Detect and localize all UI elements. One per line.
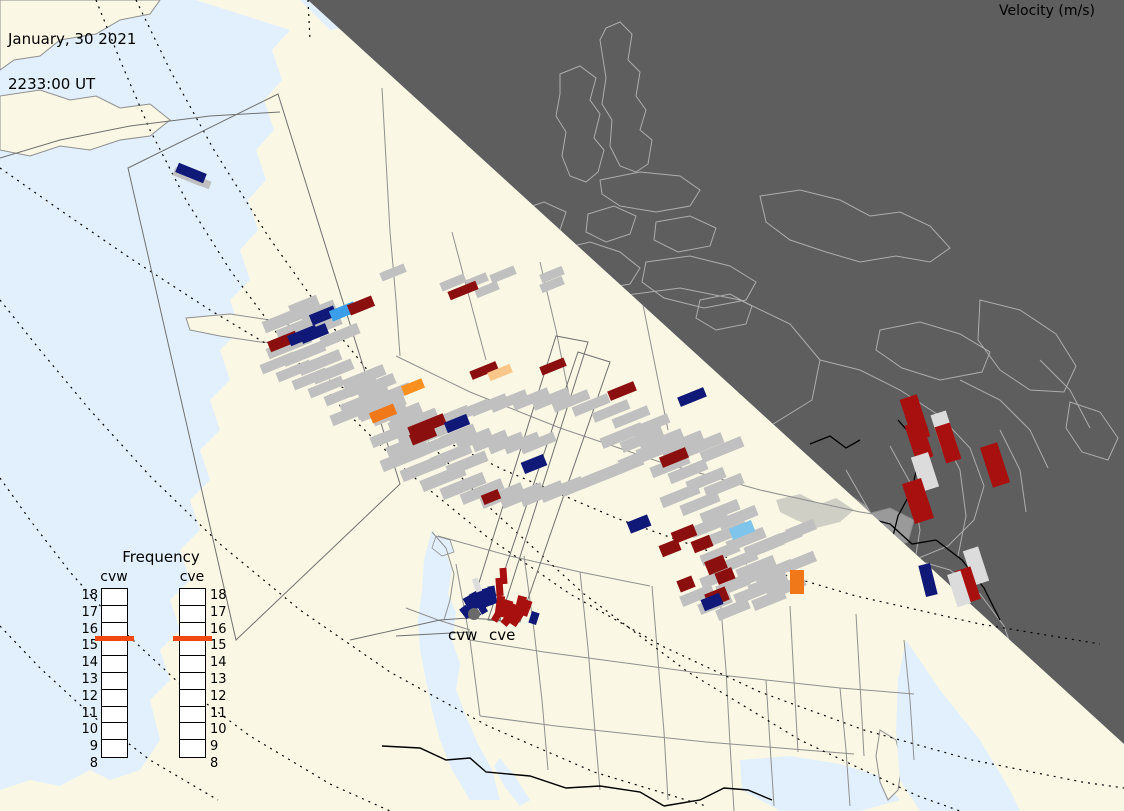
site-label-cve: cve	[489, 626, 515, 644]
frequency-tick-16: 16	[72, 622, 98, 637]
frequency-bar-cvw	[101, 588, 128, 758]
frequency-tick-16: 16	[210, 622, 236, 637]
frequency-tick-18: 18	[210, 588, 236, 603]
frequency-marker-cve	[173, 636, 212, 641]
velocity-legend-title: Velocity (m/s)	[976, 3, 1118, 19]
frequency-segment	[102, 589, 127, 606]
site-label-cvw: cvw	[448, 626, 477, 644]
frequency-column-label-cvw: cvw	[92, 569, 136, 585]
frequency-column-label-cve: cve	[170, 569, 214, 585]
frequency-tick-10: 10	[210, 722, 236, 737]
frequency-segment	[180, 723, 205, 740]
timestamp-date: January, 30 2021	[8, 32, 136, 47]
frequency-segment	[180, 740, 205, 757]
frequency-tick-13: 13	[210, 672, 236, 687]
frequency-tick-12: 12	[210, 689, 236, 704]
frequency-segment	[102, 690, 127, 707]
frequency-bar-cve	[179, 588, 206, 758]
frequency-segment	[102, 740, 127, 757]
frequency-segment	[102, 606, 127, 623]
timestamp-time: 2233:00 UT	[8, 77, 136, 92]
frequency-tick-9: 9	[72, 739, 98, 754]
frequency-segment	[180, 656, 205, 673]
frequency-legend: Frequency cvw cve 18171615141312111098 1…	[86, 546, 236, 786]
superdarn-fan-plot: January, 30 2021 2233:00 UT cvw cve Velo…	[0, 0, 1124, 811]
frequency-tick-8: 8	[210, 756, 236, 771]
frequency-segment	[102, 707, 127, 724]
frequency-tick-11: 11	[210, 706, 236, 721]
frequency-tick-10: 10	[72, 722, 98, 737]
frequency-tick-11: 11	[72, 706, 98, 721]
frequency-segment	[180, 589, 205, 606]
frequency-segment	[180, 707, 205, 724]
frequency-segment	[180, 690, 205, 707]
radar-site-marker	[468, 608, 480, 620]
frequency-tick-13: 13	[72, 672, 98, 687]
frequency-tick-15: 15	[210, 638, 236, 653]
frequency-marker-cvw	[95, 636, 134, 641]
frequency-segment	[180, 639, 205, 656]
frequency-tick-12: 12	[72, 689, 98, 704]
frequency-segment	[102, 723, 127, 740]
timestamp: January, 30 2021 2233:00 UT	[8, 2, 136, 122]
frequency-segment	[102, 639, 127, 656]
frequency-segment	[102, 673, 127, 690]
frequency-tick-8: 8	[72, 756, 98, 771]
frequency-tick-18: 18	[72, 588, 98, 603]
frequency-tick-17: 17	[72, 605, 98, 620]
frequency-segment	[180, 673, 205, 690]
frequency-tick-9: 9	[210, 739, 236, 754]
frequency-legend-title: Frequency	[86, 548, 236, 566]
radar-beam-cell	[499, 568, 507, 584]
frequency-tick-14: 14	[72, 655, 98, 670]
velocity-cell	[790, 570, 804, 594]
frequency-segment	[102, 656, 127, 673]
frequency-segment	[180, 606, 205, 623]
velocity-legend: Velocity (m/s) 5004003002001000-100-200-…	[976, 0, 1124, 330]
frequency-tick-17: 17	[210, 605, 236, 620]
frequency-tick-14: 14	[210, 655, 236, 670]
